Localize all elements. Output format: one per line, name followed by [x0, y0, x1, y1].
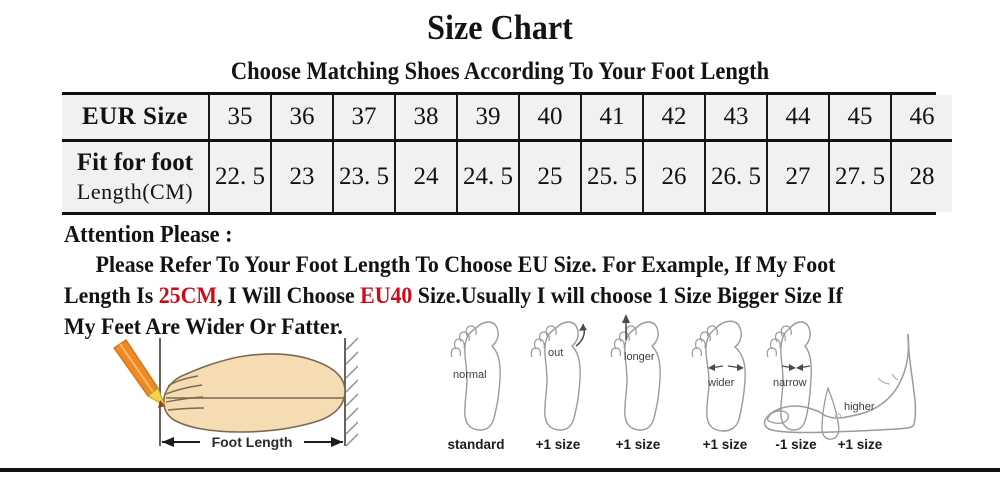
foot-type-longer: longer +1 size [611, 314, 661, 452]
measure-caption: Foot Length [212, 434, 293, 450]
attention-line2-a: Length Is [64, 283, 159, 309]
page-title: Size Chart [40, 8, 960, 48]
foot-inner-label: narrow [773, 377, 807, 389]
eur-size-cell: 37 [333, 95, 395, 141]
foot-inner-label: normal [453, 369, 487, 381]
foot-size-label: +1 size [703, 437, 748, 452]
page-subtitle: Choose Matching Shoes According To Your … [50, 58, 950, 86]
foot-silhouette [164, 354, 345, 432]
arrow-left-icon [162, 437, 174, 447]
attention-line1: Please Refer To Your Foot Length To Choo… [96, 252, 836, 278]
foot-size-label: +1 size [536, 437, 581, 452]
highlight-eu-size: EU40 [360, 283, 412, 309]
foot-length-cell: 23. 5 [333, 141, 395, 213]
eur-size-cell: 42 [643, 95, 705, 141]
foot-length-cell: 24. 5 [457, 141, 519, 213]
foot-inner-label: longer [624, 351, 655, 363]
foot-size-label: +1 size [616, 437, 661, 452]
row-header-line1: Fit for foot [62, 148, 208, 179]
attention-heading: Attention Please : [64, 220, 882, 250]
foot-inner-label: higher [844, 401, 875, 413]
foot-length-cell: 28 [891, 141, 952, 213]
foot-type-out: out +1 size [531, 322, 587, 452]
longer-arrowhead-icon [622, 314, 630, 323]
foot-types-svg: normal standard out +1 size [440, 306, 940, 456]
table-row-eur: EUR Size 35 36 37 38 39 40 41 42 43 44 4… [62, 95, 952, 141]
eur-size-cell: 44 [767, 95, 829, 141]
size-chart-page: Size Chart Choose Matching Shoes Accordi… [0, 0, 1000, 480]
row-header-fit-for-foot: Fit for foot Length(CM) [62, 141, 209, 213]
foot-length-cell: 24 [395, 141, 457, 213]
foot-type-wider: wider +1 size [692, 321, 748, 452]
foot-inner-label: wider [707, 377, 735, 389]
foot-size-label: -1 size [775, 437, 817, 452]
foot-length-cell: 22. 5 [209, 141, 271, 213]
attention-line2-b: , I Will Choose [217, 283, 360, 309]
size-table-container: EUR Size 35 36 37 38 39 40 41 42 43 44 4… [62, 92, 936, 215]
eur-size-cell: 39 [457, 95, 519, 141]
foot-inner-label: out [548, 347, 563, 359]
foot-type-diagrams: normal standard out +1 size [440, 306, 940, 456]
pencil-icon [114, 340, 165, 408]
foot-length-cell: 25 [519, 141, 581, 213]
foot-measure-svg: Foot Length [108, 336, 358, 456]
foot-measure-diagram: Foot Length [108, 336, 358, 456]
row-header-eur-size: EUR Size [62, 95, 209, 141]
out-arrowhead-icon [579, 324, 587, 331]
foot-length-cell: 27. 5 [829, 141, 891, 213]
bottom-divider [0, 468, 1000, 472]
foot-length-cell: 26. 5 [705, 141, 767, 213]
foot-length-cell: 26 [643, 141, 705, 213]
foot-length-cell: 23 [271, 141, 333, 213]
foot-length-cell: 25. 5 [581, 141, 643, 213]
eur-size-cell: 38 [395, 95, 457, 141]
highlight-foot-length: 25CM [159, 283, 217, 309]
foot-length-cell: 27 [767, 141, 829, 213]
row-header-line2: Length(CM) [62, 179, 208, 206]
eur-size-cell: 46 [891, 95, 952, 141]
eur-size-cell: 36 [271, 95, 333, 141]
eur-size-cell: 41 [581, 95, 643, 141]
eur-size-cell: 45 [829, 95, 891, 141]
eur-size-cell: 35 [209, 95, 271, 141]
eur-size-cell: 43 [705, 95, 767, 141]
wall-hatching-icon [346, 338, 358, 446]
foot-type-normal: normal standard [447, 322, 504, 452]
foot-size-label: standard [447, 437, 504, 452]
arrow-right-icon [331, 437, 343, 447]
foot-size-label: +1 size [838, 437, 883, 452]
eur-size-cell: 40 [519, 95, 581, 141]
size-table: EUR Size 35 36 37 38 39 40 41 42 43 44 4… [62, 95, 952, 212]
table-row-foot-length: Fit for foot Length(CM) 22. 5 23 23. 5 2… [62, 141, 952, 213]
